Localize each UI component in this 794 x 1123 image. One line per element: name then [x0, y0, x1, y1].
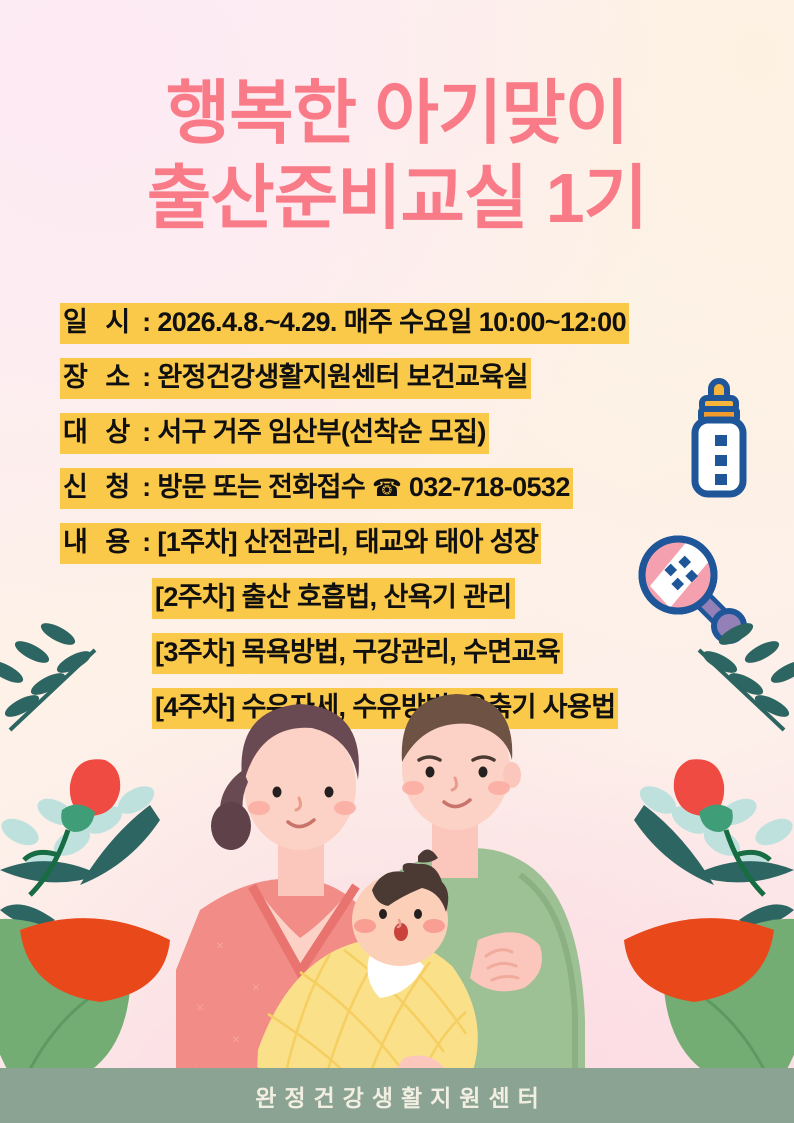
svg-text:×: ×	[252, 979, 260, 995]
info-label: 대 상	[63, 417, 135, 447]
info-row-content: 내 용 : [1주차] 산전관리, 태교와 태아 성장	[60, 523, 541, 564]
family-illustration: × × × × × × × ×	[0, 620, 794, 1123]
telephone-icon: ☎	[372, 475, 402, 502]
info-separator: :	[135, 527, 157, 557]
poster-title: 행복한 아기맞이 출산준비교실 1기	[0, 78, 794, 235]
info-label: 장 소	[63, 362, 135, 392]
info-separator: :	[135, 362, 157, 392]
info-label: 내 용	[63, 527, 135, 557]
info-separator: :	[135, 307, 157, 337]
info-row-content: 장 소 : 완정건강생활지원센터 보건교육실	[60, 358, 531, 399]
title-line-1: 행복한 아기맞이	[0, 78, 794, 149]
info-value: [1주차] 산전관리, 태교와 태아 성장	[157, 527, 538, 557]
poster-canvas: 행복한 아기맞이 출산준비교실 1기 일 시 : 2026.4.8.~4.29.…	[0, 0, 794, 1123]
info-separator: :	[135, 417, 157, 447]
info-value: [2주차] 출산 호흡법, 산욕기 관리	[155, 582, 512, 612]
info-row-content: 일 시 : 2026.4.8.~4.29. 매주 수요일 10:00~12:00	[60, 303, 629, 344]
svg-text:×: ×	[196, 999, 204, 1015]
info-value: 완정건강생활지원센터 보건교육실	[157, 362, 528, 392]
phone-number: 032-718-0532	[402, 472, 570, 502]
family-group: × × × × × × × ×	[176, 694, 585, 1090]
info-label: 일 시	[63, 307, 135, 337]
info-row: 일 시 : 2026.4.8.~4.29. 매주 수요일 10:00~12:00	[60, 303, 760, 358]
info-row-content: 신 청 : 방문 또는 전화접수 ☎ 032-718-0532	[60, 468, 573, 509]
info-separator: :	[135, 472, 157, 502]
info-row: 대 상 : 서구 거주 임산부(선착순 모집)	[60, 413, 760, 468]
info-value: 2026.4.8.~4.29. 매주 수요일 10:00~12:00	[157, 307, 626, 337]
info-value: 방문 또는 전화접수	[157, 472, 372, 502]
info-row-content: [2주차] 출산 호흡법, 산욕기 관리	[152, 578, 515, 619]
baby-bottle-icon	[688, 378, 750, 503]
info-value: 서구 거주 임산부(선착순 모집)	[157, 417, 485, 447]
info-row-content: 대 상 : 서구 거주 임산부(선착순 모집)	[60, 413, 489, 454]
info-row: 신 청 : 방문 또는 전화접수 ☎ 032-718-0532	[60, 468, 760, 523]
svg-text:×: ×	[216, 937, 224, 953]
footer-organization-name: 완정건강생활지원센터	[247, 1079, 547, 1113]
footer-band: 완정건강생활지원센터	[0, 1068, 794, 1123]
info-label: 신 청	[63, 472, 135, 502]
svg-text:×: ×	[232, 1031, 240, 1047]
info-row: 장 소 : 완정건강생활지원센터 보건교육실	[60, 358, 760, 413]
title-line-2: 출산준비교실 1기	[0, 163, 794, 234]
